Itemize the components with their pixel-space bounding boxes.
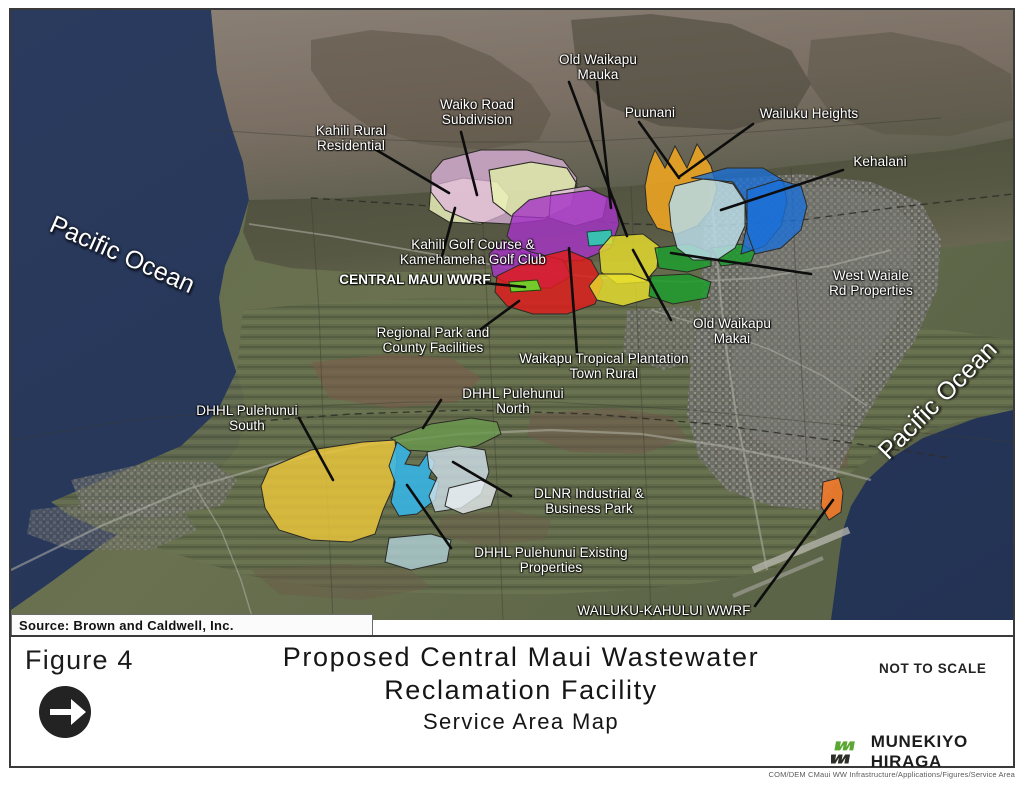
figure-title-line3: Service Area Map [221, 707, 821, 737]
figure-title-line1: Proposed Central Maui Wastewater [221, 641, 821, 674]
file-path-note: COM/DEM CMaui WW Infrastructure/Applicat… [0, 770, 1015, 779]
figure-number: Figure 4 [25, 645, 134, 676]
figure-title-line2: Reclamation Facility [221, 674, 821, 707]
company-logo: MUNEKIYO HIRAGA [831, 732, 1013, 772]
north-arrow-icon [37, 684, 93, 740]
title-block: Figure 4 Proposed Central Maui Wastewate… [11, 635, 1013, 766]
munekiyo-hiraga-logo-icon [831, 734, 864, 770]
not-to-scale-note: NOT TO SCALE [879, 661, 986, 676]
figure-page: Old Waikapu MaukaWaiko Road SubdivisionP… [0, 0, 1024, 789]
source-note-box: Source: Brown and Caldwell, Inc. [11, 614, 373, 636]
company-logo-text: MUNEKIYO HIRAGA [871, 732, 1013, 772]
parcel-wailuku-heights[interactable] [669, 178, 745, 260]
satellite-basemap [11, 10, 1013, 620]
figure-title: Proposed Central Maui Wastewater Reclama… [221, 641, 821, 737]
source-note-text: Source: Brown and Caldwell, Inc. [19, 618, 234, 633]
map-area[interactable]: Old Waikapu MaukaWaiko Road SubdivisionP… [11, 10, 1013, 620]
figure-frame: Old Waikapu MaukaWaiko Road SubdivisionP… [9, 8, 1015, 768]
